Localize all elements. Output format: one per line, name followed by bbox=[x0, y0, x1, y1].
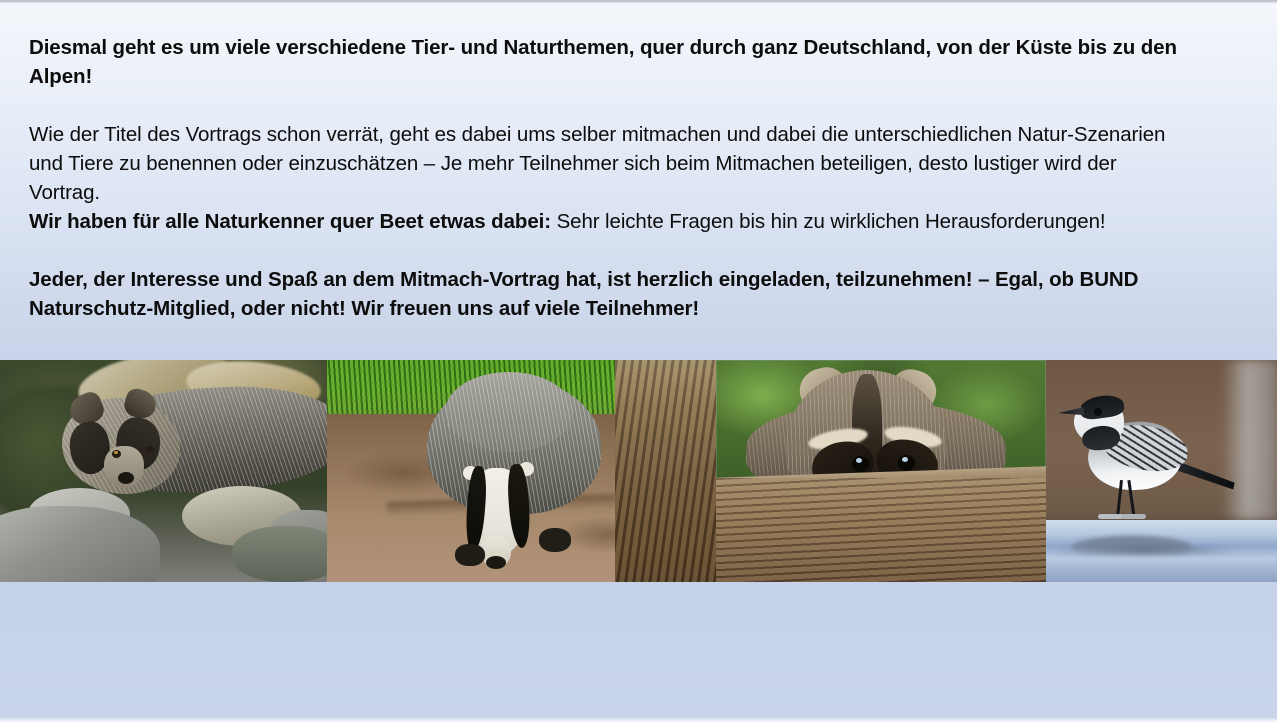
paragraph-difficulty: Wir haben für alle Naturkenner quer Beet… bbox=[29, 207, 1189, 236]
wagtail-eye bbox=[1094, 408, 1102, 416]
paragraph-spacer-2 bbox=[29, 236, 1189, 265]
paragraph-difficulty-bold: Wir haben für alle Naturkenner quer Beet… bbox=[29, 210, 551, 233]
photo-wagtail bbox=[1046, 360, 1277, 582]
badger-shoulder bbox=[445, 372, 573, 452]
raccoon-eye-highlight-right bbox=[902, 457, 908, 462]
photo-strip bbox=[0, 360, 1277, 582]
cut-log bbox=[615, 360, 716, 582]
photo-raccoon bbox=[716, 360, 1046, 582]
raccoon-dog-eye-highlight bbox=[114, 451, 118, 454]
raccoon-dog-nose bbox=[118, 472, 134, 484]
wagtail-foot-back bbox=[1122, 514, 1146, 519]
bird-reflection bbox=[1072, 536, 1192, 558]
foreground-stone-lower-right bbox=[232, 526, 327, 582]
paragraph-intro: Diesmal geht es um viele verschiedene Ti… bbox=[29, 33, 1189, 91]
slide-text-block: Diesmal geht es um viele verschiedene Ti… bbox=[29, 33, 1189, 323]
wagtail-foot-front bbox=[1098, 514, 1124, 519]
raccoon-dog-eye-right bbox=[146, 446, 154, 453]
badger-paw-right bbox=[539, 528, 571, 552]
slide-canvas: Diesmal geht es um viele verschiedene Ti… bbox=[0, 0, 1277, 723]
photo-badger bbox=[327, 360, 716, 582]
badger-nose bbox=[486, 556, 506, 569]
photo-raccoon-dog bbox=[0, 360, 327, 582]
raccoon-eye-highlight-left bbox=[856, 458, 862, 463]
paragraph-difficulty-regular: Sehr leichte Fragen bis hin zu wirkliche… bbox=[551, 210, 1106, 233]
badger-paw-left bbox=[455, 544, 485, 566]
tree-trunk bbox=[716, 478, 1046, 582]
paragraph-description: Wie der Titel des Vortrags schon verrät,… bbox=[29, 120, 1189, 207]
bottom-edge-rule bbox=[0, 718, 1277, 723]
background-light-column bbox=[1222, 360, 1277, 520]
paragraph-invitation: Jeder, der Interesse und Spaß an dem Mit… bbox=[29, 265, 1189, 323]
paragraph-spacer-1 bbox=[29, 91, 1189, 120]
